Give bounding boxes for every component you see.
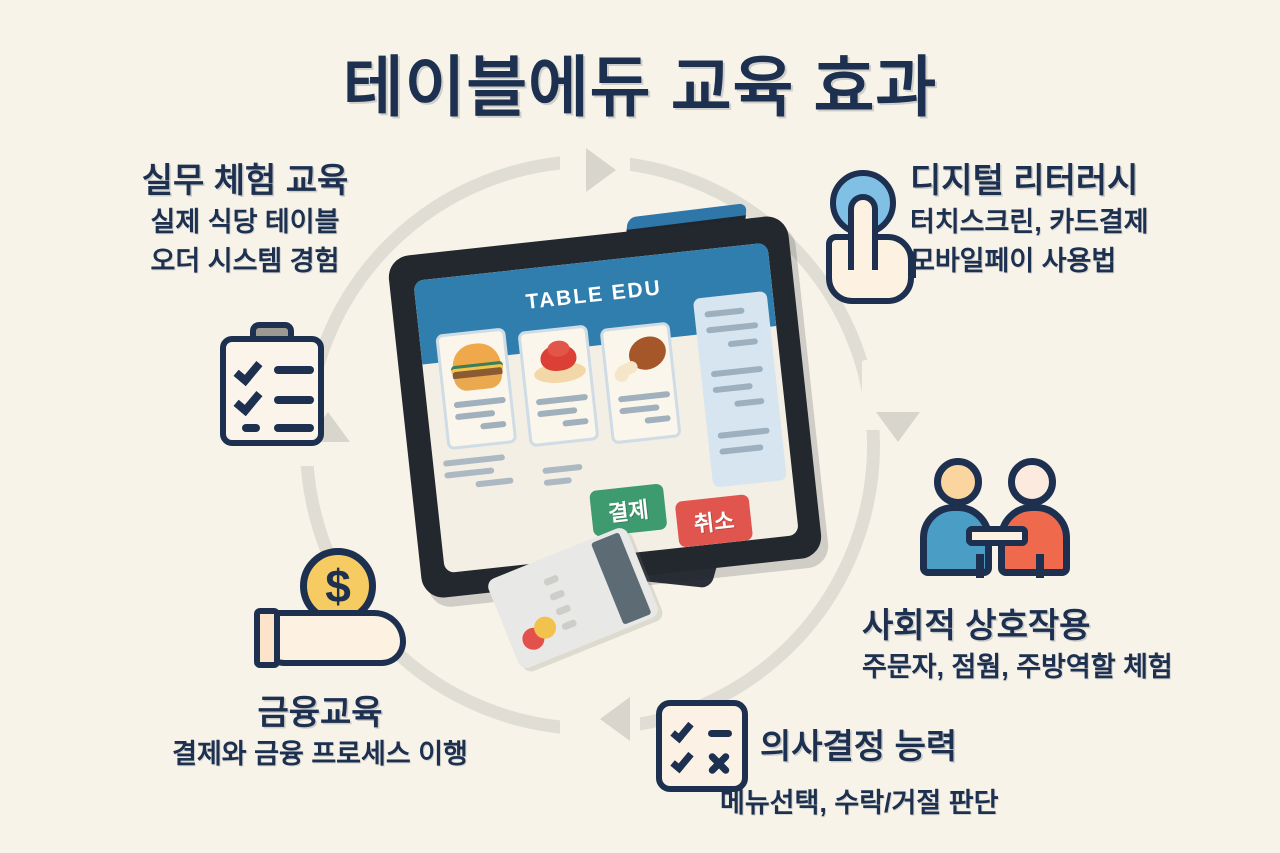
clipboard-dash-3	[242, 424, 260, 432]
meta-line	[544, 477, 572, 486]
decision-checkbox-icon	[656, 700, 748, 792]
flow-arrow-top	[586, 148, 616, 192]
menu-item-card[interactable]	[600, 322, 682, 445]
block-finance: 금융교육 결제와 금융 프로세스 이행	[120, 692, 520, 774]
block-finance-line-1: 결제와 금융 프로세스 이행	[120, 735, 520, 774]
block-practical-line-1: 실제 식당 테이블	[55, 203, 435, 242]
meta-line	[443, 454, 505, 467]
burger-icon	[446, 339, 507, 395]
touch-index-finger	[848, 194, 878, 270]
decision-check-2	[670, 749, 693, 774]
block-digital-line-2: 모바일페이 사용법	[910, 242, 1270, 281]
chicken-icon	[611, 333, 672, 389]
block-digital: 디지털 리터러시 터치스크린, 카드결제 모바일페이 사용법	[910, 160, 1270, 281]
block-finance-heading: 금융교육	[120, 692, 520, 735]
open-hand	[260, 610, 406, 666]
clipboard-check-1	[234, 356, 263, 386]
block-digital-heading: 디지털 리터러시	[910, 160, 1270, 203]
clipboard-line-1	[274, 366, 314, 374]
clipboard-line-2	[274, 396, 314, 404]
handshake-arms	[966, 526, 1028, 546]
decision-box	[656, 700, 748, 792]
flow-arrow-right	[876, 412, 920, 442]
block-practical-heading: 실무 체험 교육	[55, 160, 435, 203]
page-title: 테이블에듀 교육 효과	[0, 34, 1280, 130]
touch-hand-icon	[822, 168, 926, 308]
person-left-head	[934, 458, 982, 506]
block-practical-line-2: 오더 시스템 경험	[55, 242, 435, 281]
pay-button[interactable]: 결제	[589, 483, 668, 537]
meta-line	[475, 477, 513, 487]
block-social-line-1: 주문자, 점웜, 주방역할 체험	[862, 648, 1272, 687]
menu-item-card[interactable]	[517, 324, 599, 447]
block-social: 사회적 상호작용 주문자, 점웜, 주방역할 체험	[862, 605, 1272, 687]
meta-line	[542, 464, 582, 474]
block-practical: 실무 체험 교육 실제 식당 테이블 오더 시스템 경험	[55, 160, 435, 281]
coin-in-hand-icon: $	[254, 548, 412, 678]
tablet-screen[interactable]: TABLE EDU	[413, 243, 799, 574]
flow-arrow-bottom	[600, 697, 630, 741]
block-decision-heading: 의사결정 능력	[760, 726, 957, 769]
decision-check-1	[670, 719, 693, 744]
decision-dash	[708, 730, 732, 737]
decision-cross-icon	[706, 750, 732, 776]
clipboard-line-3	[274, 424, 314, 432]
clipboard-check-2	[234, 386, 263, 416]
pizza-icon	[529, 336, 590, 392]
block-social-heading: 사회적 상호작용	[862, 605, 1272, 648]
person-right-head	[1008, 458, 1056, 506]
clipboard-body	[220, 336, 324, 446]
block-digital-line-1: 터치스크린, 카드결제	[910, 203, 1270, 242]
person-left-leg	[976, 554, 984, 578]
hand-cuff	[254, 608, 280, 668]
meta-line	[444, 467, 494, 478]
person-right-leg	[1036, 554, 1044, 578]
cancel-button[interactable]: 취소	[675, 494, 754, 548]
clipboard-checklist-icon	[214, 322, 330, 448]
infographic-canvas: 테이블에듀 교육 효과 실무 체험 교육 실제 식당 테이블 오더 시스템 경험…	[0, 0, 1280, 853]
menu-item-card[interactable]	[435, 327, 517, 450]
handshake-people-icon	[916, 458, 1076, 596]
block-decision-line-1: 메뉴선택, 수락/거절 판단	[720, 784, 998, 823]
